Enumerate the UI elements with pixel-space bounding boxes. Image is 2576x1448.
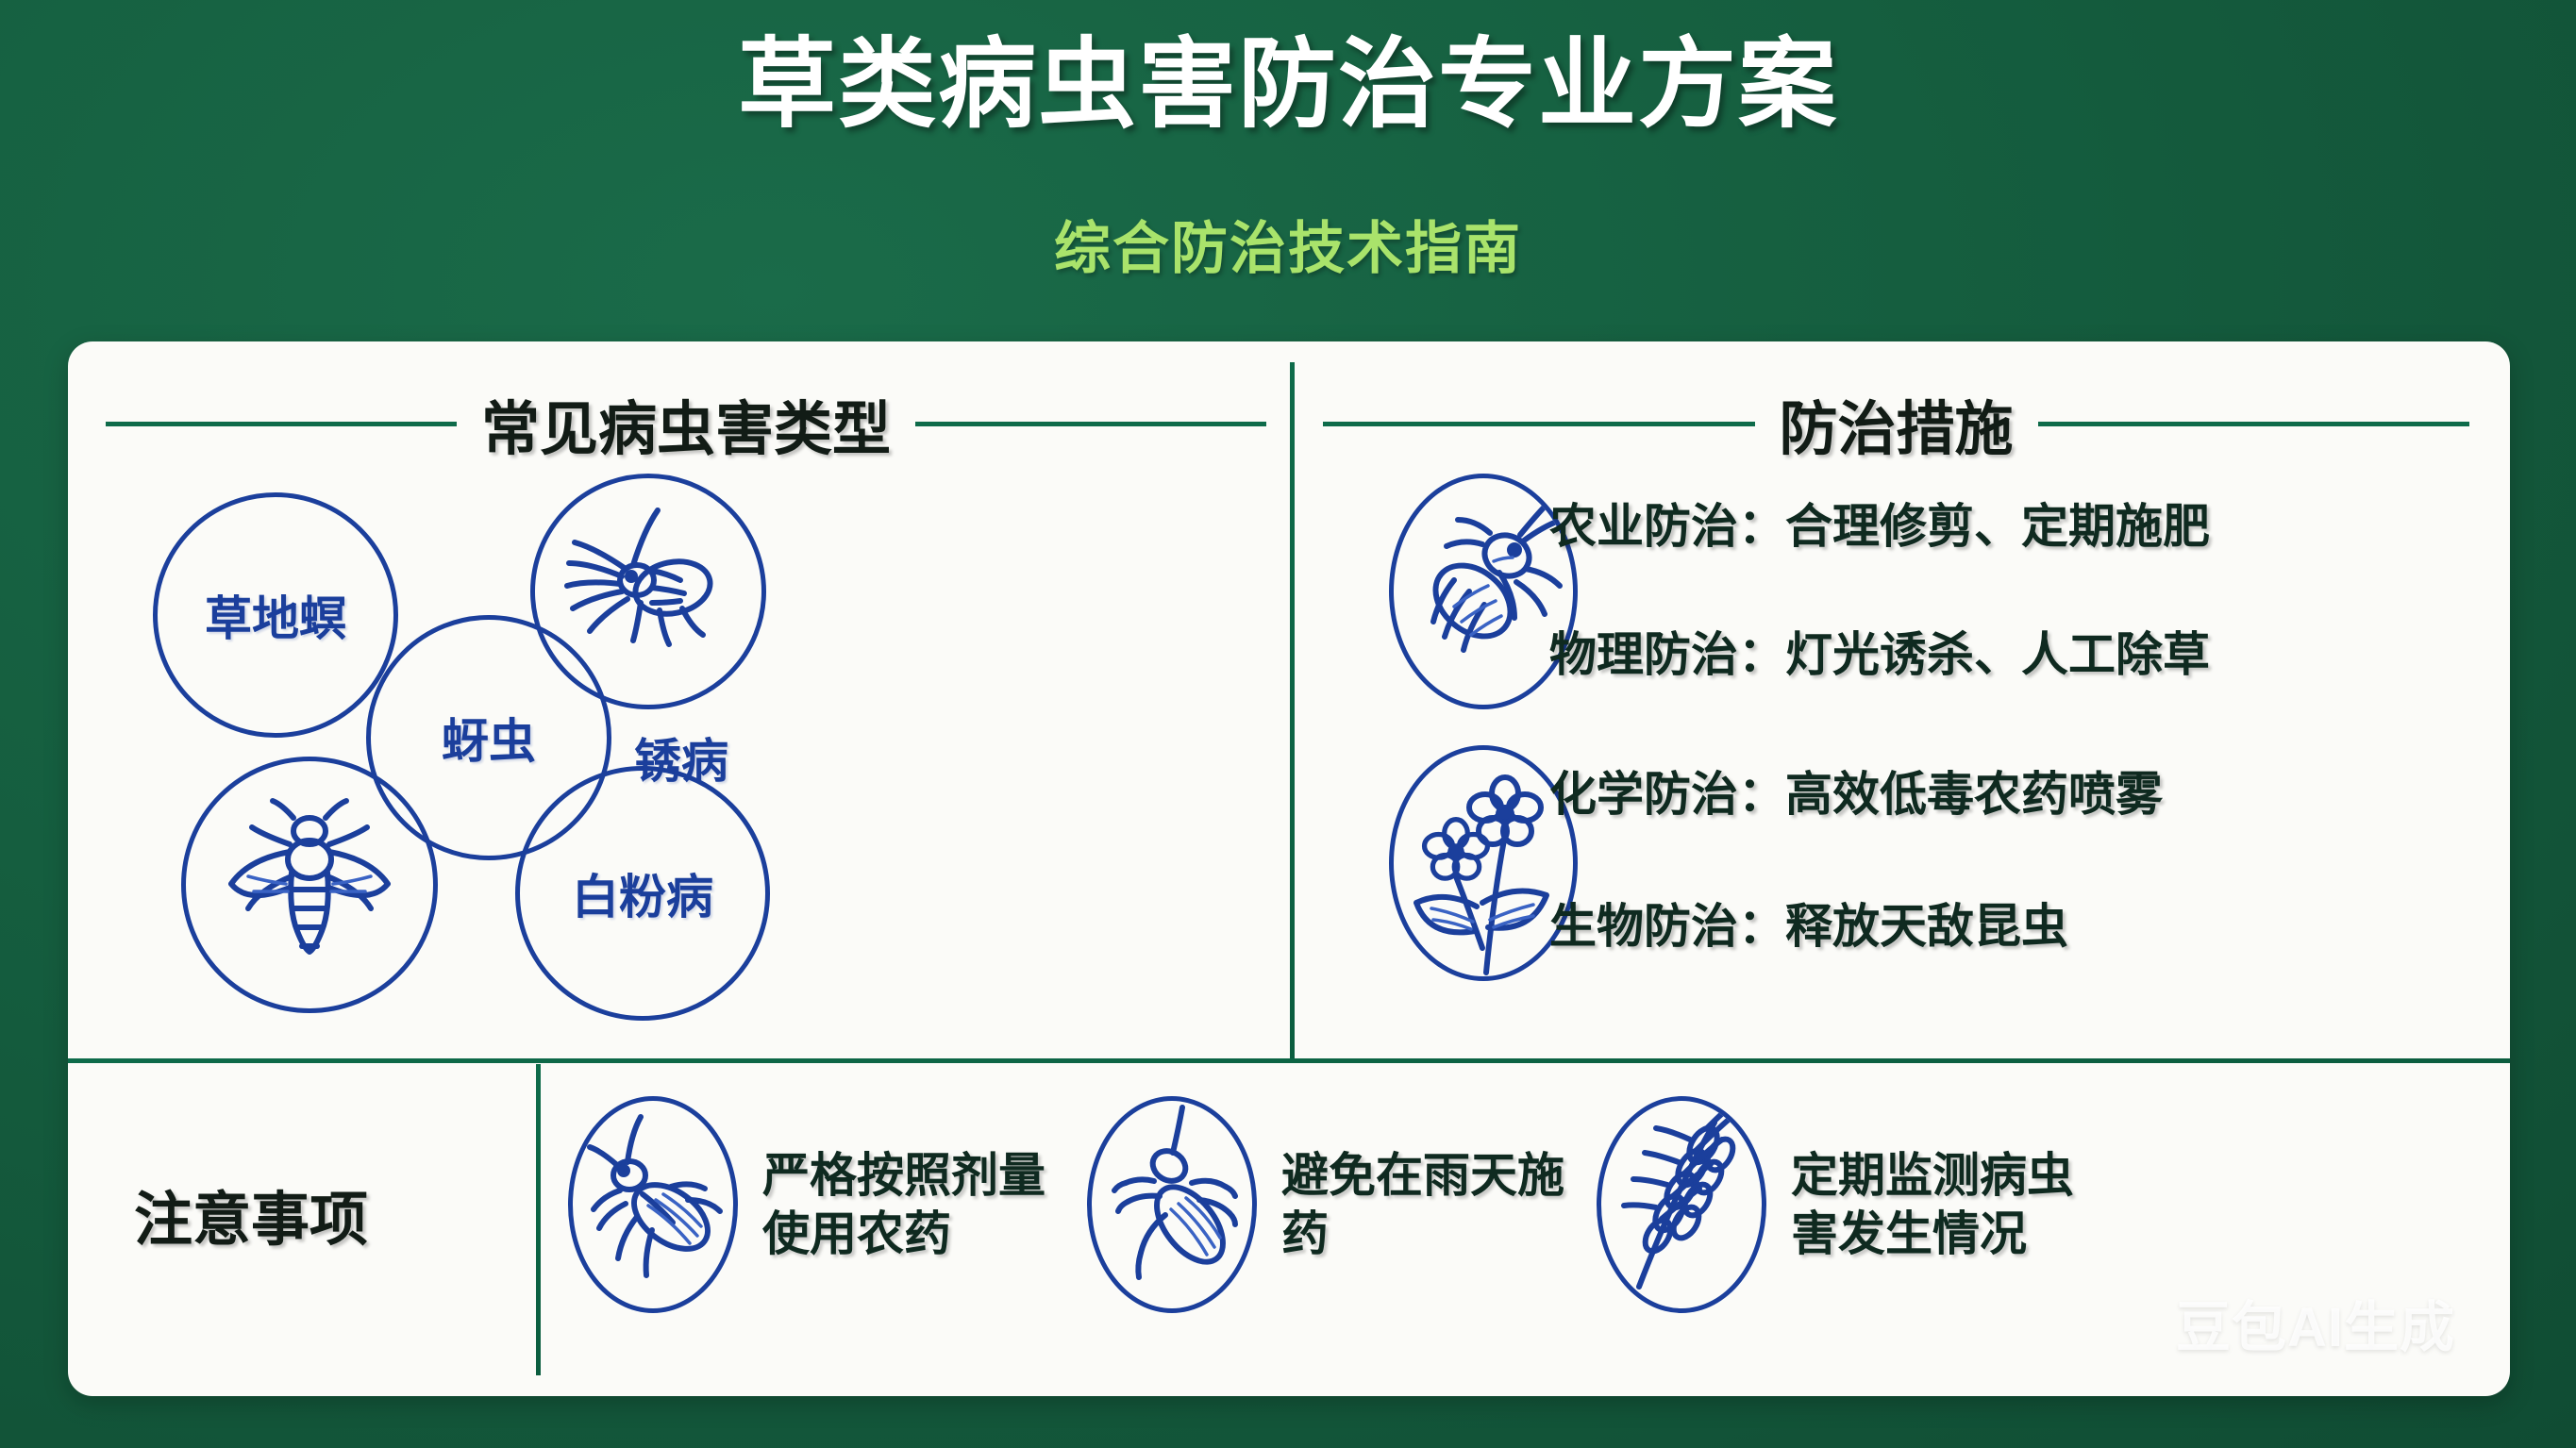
note-icon-wrap bbox=[568, 1096, 738, 1313]
pests-section-heading: 常见病虫害类型 bbox=[106, 381, 1266, 466]
pest-bubble-bee-illustration[interactable] bbox=[181, 757, 438, 1013]
watermark: 豆包AI生成 bbox=[2176, 1283, 2455, 1362]
measure-category: 农业防治： bbox=[1549, 500, 1785, 553]
wheat-ear-icon bbox=[1601, 1102, 1762, 1311]
pests-heading-label: 常见病虫害类型 bbox=[481, 381, 891, 466]
measure-detail: 灯光诱杀、人工除草 bbox=[1785, 628, 2210, 681]
measure-detail: 释放天敌昆虫 bbox=[1785, 900, 2068, 953]
measure-item-biological: 生物防治：释放天敌昆虫 bbox=[1549, 889, 2068, 957]
cricket-icon bbox=[1092, 1102, 1252, 1311]
pest-label: 蚜虫 bbox=[442, 704, 536, 772]
vertical-divider-top bbox=[1290, 362, 1295, 1058]
measures-section-heading: 防治措施 bbox=[1323, 381, 2469, 466]
note-icon-wrap bbox=[1597, 1096, 1766, 1313]
pest-bubble-winged-insect-illustration[interactable] bbox=[530, 474, 766, 709]
measure-detail: 合理修剪、定期施肥 bbox=[1785, 500, 2210, 553]
measure-item-agricultural: 农业防治：合理修剪、定期施肥 bbox=[1549, 489, 2210, 557]
poster-background: 草类病虫害防治专业方案 综合防治技术指南 常见病虫害类型 防治措施 草地螟 蚜虫 bbox=[0, 0, 2576, 1448]
page-subtitle: 综合防治技术指南 bbox=[0, 219, 2576, 278]
note-item-dosage[interactable]: 严格按照剂量使用农药 bbox=[568, 1096, 1074, 1313]
flower-plant-icon bbox=[1394, 754, 1573, 980]
heading-rule-left bbox=[1323, 422, 1755, 426]
note-text: 避免在雨天施药 bbox=[1281, 1146, 1593, 1264]
measure-category: 化学防治： bbox=[1549, 768, 1785, 821]
winged-insect-icon bbox=[554, 497, 743, 686]
measure-category: 生物防治： bbox=[1549, 900, 1785, 953]
measures-heading-label: 防治措施 bbox=[1780, 381, 2014, 466]
note-icon-wrap bbox=[1087, 1096, 1257, 1313]
pest-label-rust-disease[interactable]: 锈病 bbox=[634, 724, 728, 791]
note-item-avoid-rain[interactable]: 避免在雨天施药 bbox=[1087, 1096, 1593, 1313]
measure-item-chemical: 化学防治：高效低毒农药喷雾 bbox=[1549, 757, 2163, 824]
measure-detail: 高效低毒农药喷雾 bbox=[1785, 768, 2163, 821]
horizontal-divider bbox=[68, 1058, 2510, 1063]
measures-group: 农业防治：合理修剪、定期施肥 物理防治：灯光诱杀、人工除草 化学防治：高效低毒农… bbox=[1323, 474, 2484, 1049]
heading-rule-right bbox=[2038, 422, 2470, 426]
measure-category: 物理防治： bbox=[1549, 628, 1785, 681]
bee-icon bbox=[210, 786, 409, 984]
heading-rule-left bbox=[106, 422, 457, 426]
measure-item-physical: 物理防治：灯光诱杀、人工除草 bbox=[1549, 617, 2210, 685]
note-text: 严格按照剂量使用农药 bbox=[762, 1146, 1074, 1264]
pest-label: 白粉病 bbox=[572, 859, 713, 927]
pest-bubble-grassland-moth[interactable]: 草地螟 bbox=[153, 492, 398, 738]
pest-label: 草地螟 bbox=[205, 581, 346, 649]
beetle-icon bbox=[573, 1102, 733, 1311]
vertical-divider-bottom bbox=[536, 1064, 541, 1375]
pest-bubble-group: 草地螟 蚜虫 白粉病 锈病 bbox=[96, 483, 1276, 1049]
content-card: 常见病虫害类型 防治措施 草地螟 蚜虫 白粉病 锈病 bbox=[68, 341, 2510, 1396]
note-text: 定期监测病虫害发生情况 bbox=[1791, 1146, 2102, 1264]
note-item-monitoring[interactable]: 定期监测病虫害发生情况 bbox=[1597, 1096, 2102, 1313]
page-title: 草类病虫害防治专业方案 bbox=[0, 34, 2576, 137]
pest-bubble-powdery-mildew[interactable]: 白粉病 bbox=[515, 766, 770, 1021]
aphid-icon bbox=[1394, 482, 1573, 708]
notes-heading: 注意事项 bbox=[134, 1172, 368, 1257]
heading-rule-right bbox=[915, 422, 1266, 426]
